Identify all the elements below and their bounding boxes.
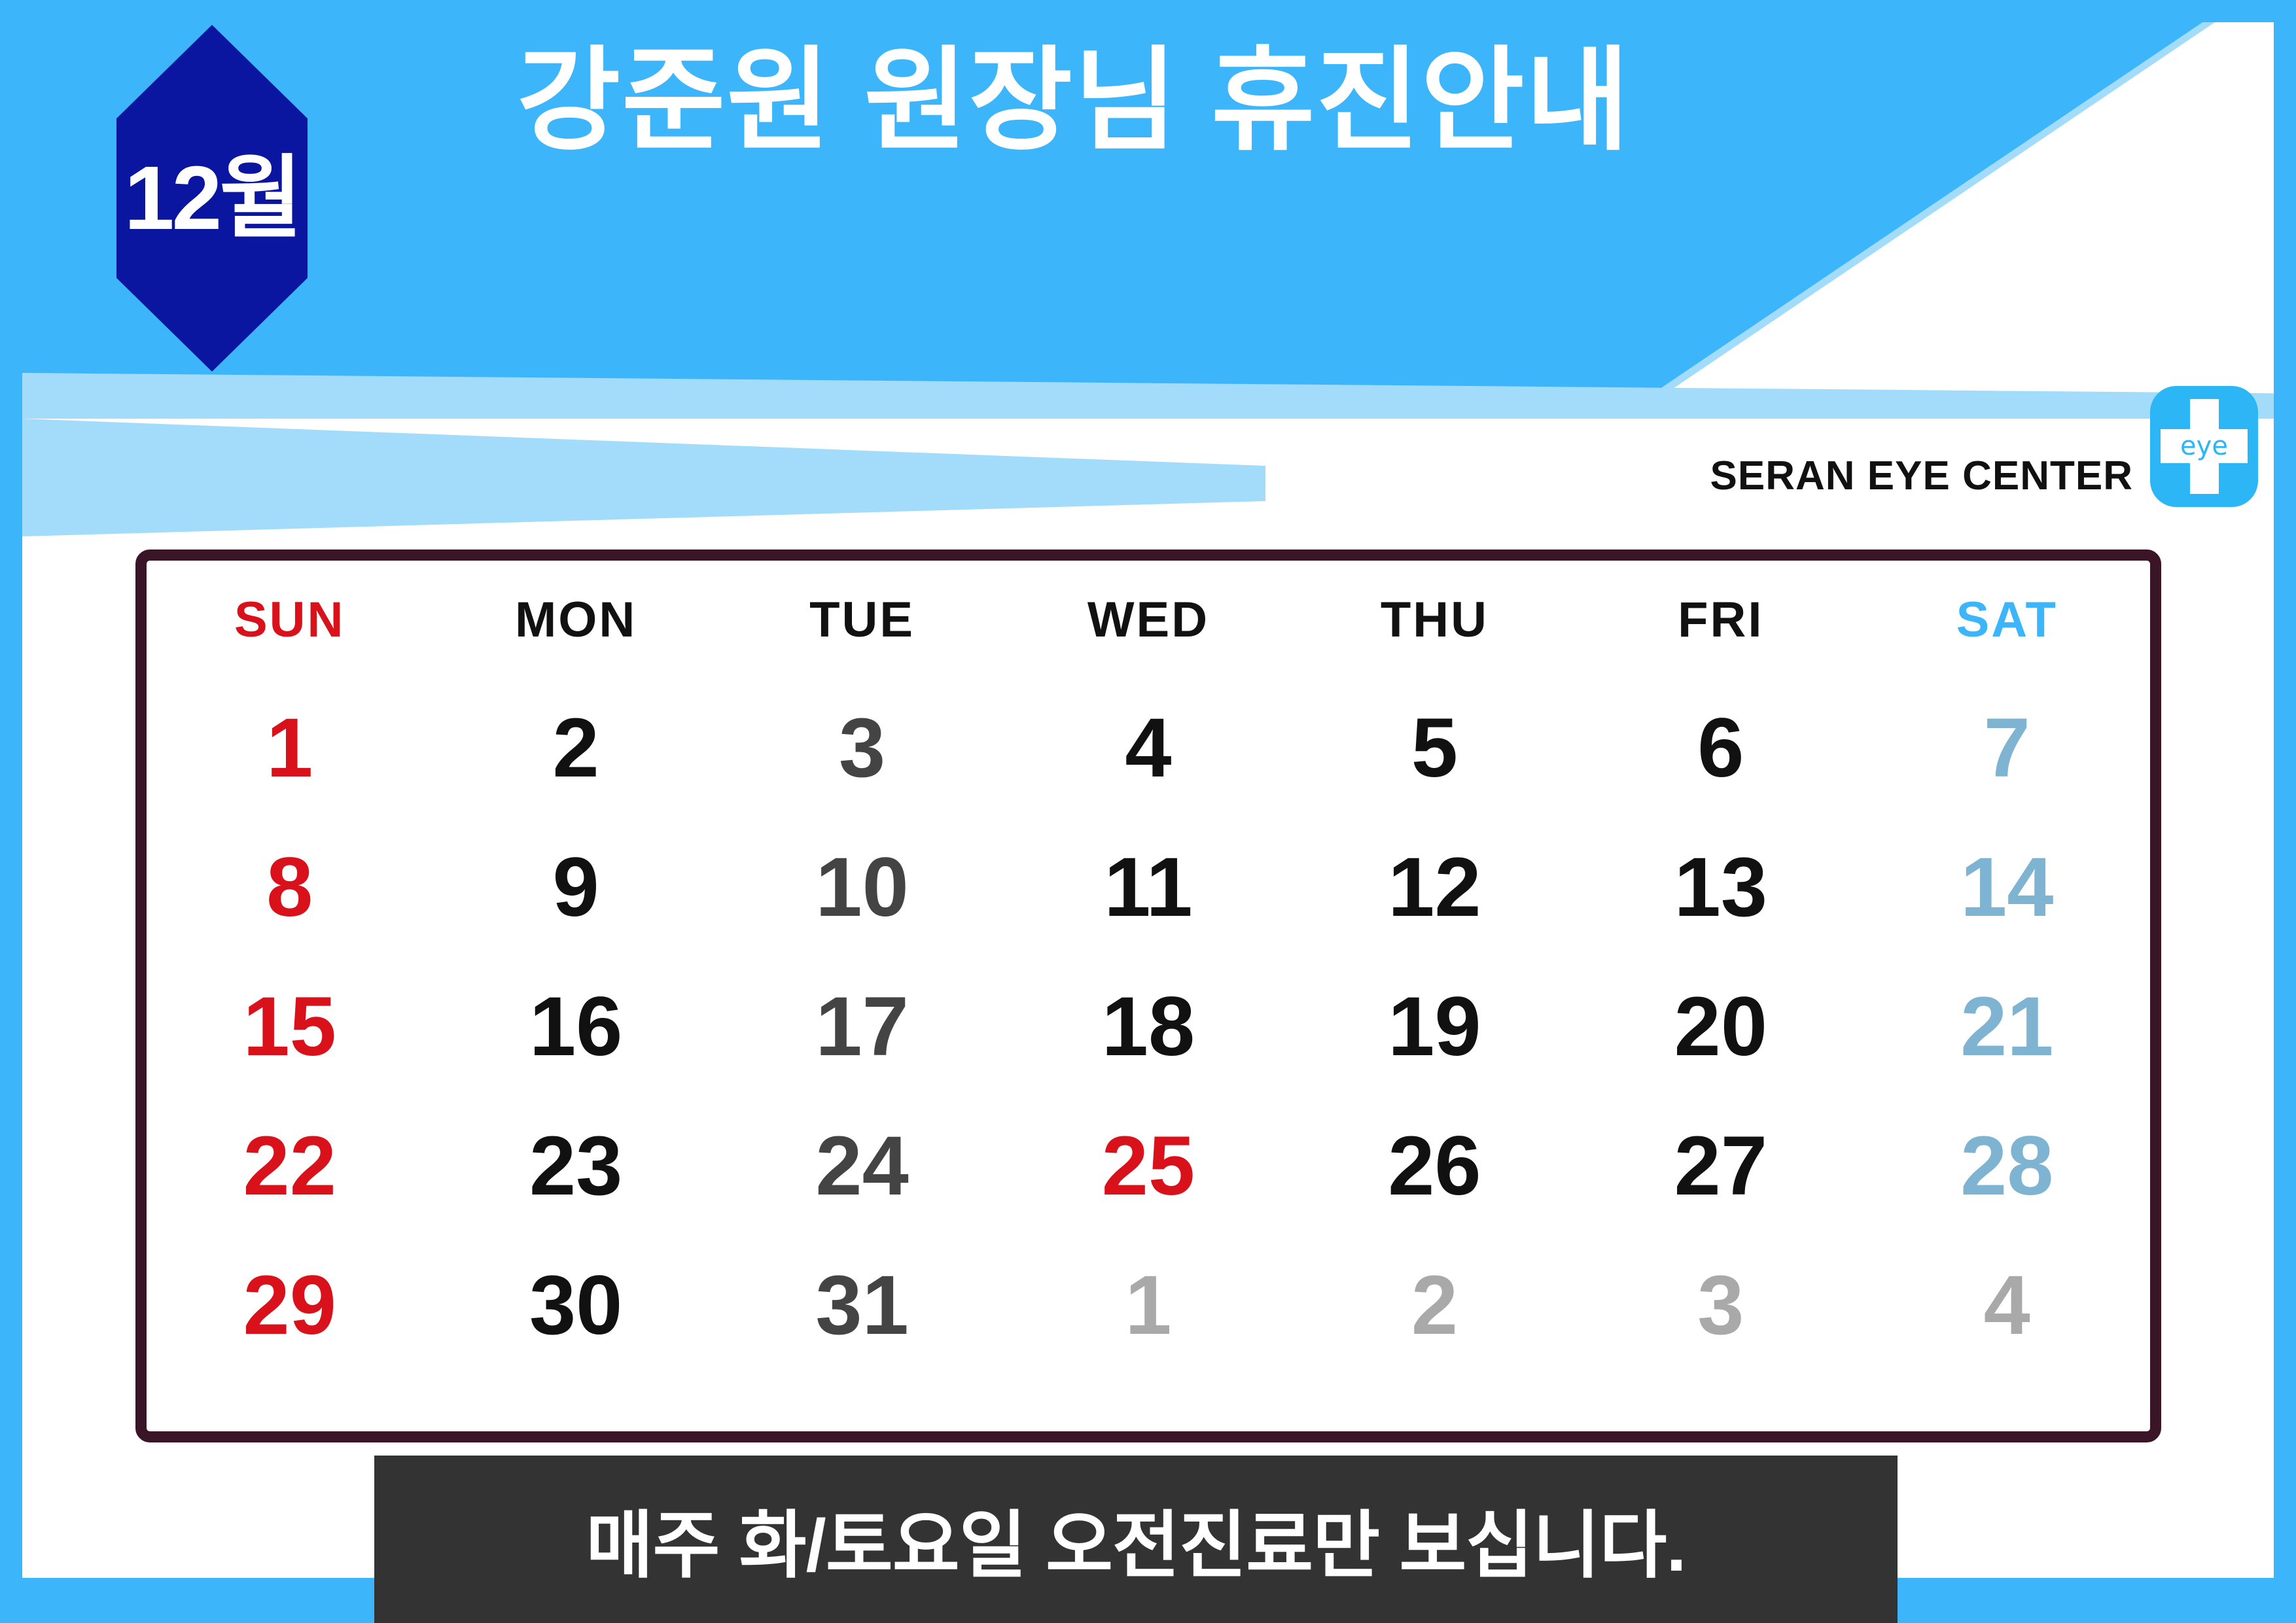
day-cell: 16 (433, 957, 718, 1096)
calendar-week-row: 15 16 17 18 19 20 21 (147, 957, 2150, 1096)
brand-block: SERAN EYE CENTER eye (1710, 386, 2258, 507)
day-cell: 2 (433, 678, 718, 818)
day-cell: 28 (1864, 1096, 2150, 1236)
calendar-frame: SUN MON TUE WED THU FRI SAT 1 2 3 4 5 6 … (135, 550, 2161, 1442)
day-cell: 10 (719, 818, 1005, 957)
day-cell: 26 (1292, 1096, 1578, 1236)
day-header-sun: SUN (147, 561, 433, 678)
calendar-week-row: 29 30 31 1 2 3 4 (147, 1236, 2150, 1375)
day-cell: 30 (433, 1236, 718, 1375)
day-cell-next-month: 2 (1292, 1236, 1578, 1375)
day-cell: 25 (1005, 1096, 1291, 1236)
calendar-week-row: 22 23 24 25 26 27 28 (147, 1096, 2150, 1236)
day-header-sat: SAT (1864, 561, 2150, 678)
day-header-tue: TUE (719, 561, 1005, 678)
day-cell: 3 (719, 678, 1005, 818)
day-cell: 27 (1578, 1096, 1863, 1236)
notice-text: 매주 화/토요일 오전진료만 보십니다. (586, 1486, 1686, 1592)
calendar-header-row: SUN MON TUE WED THU FRI SAT (147, 561, 2150, 678)
day-cell: 17 (719, 957, 1005, 1096)
day-cell: 11 (1005, 818, 1291, 957)
day-header-fri: FRI (1578, 561, 1863, 678)
day-cell: 1 (147, 678, 433, 818)
day-cell: 7 (1864, 678, 2150, 818)
day-cell: 12 (1292, 818, 1578, 957)
day-cell-highlighted: 14 (1864, 818, 2150, 957)
poster-canvas: 12월 강준원 원장님 휴진안내 SERAN EYE CENTER eye SU… (0, 0, 2296, 1623)
day-cell-next-month: 1 (1005, 1236, 1291, 1375)
day-cell: 9 (433, 818, 718, 957)
month-badge-hexagon: 12월 (116, 25, 308, 372)
day-cell: 20 (1578, 957, 1863, 1096)
day-cell-next-month: 3 (1578, 1236, 1863, 1375)
brand-name: SERAN EYE CENTER (1710, 453, 2133, 507)
day-cell: 31 (719, 1236, 1005, 1375)
day-cell: 21 (1864, 957, 2150, 1096)
day-cell: 15 (147, 957, 433, 1096)
day-cell: 19 (1292, 957, 1578, 1096)
day-header-wed: WED (1005, 561, 1291, 678)
calendar-grid: SUN MON TUE WED THU FRI SAT 1 2 3 4 5 6 … (147, 561, 2150, 1431)
day-cell: 24 (719, 1096, 1005, 1236)
day-cell: 8 (147, 818, 433, 957)
day-cell: 18 (1005, 957, 1291, 1096)
page-title: 강준원 원장님 휴진안내 (517, 39, 1631, 163)
day-cell: 5 (1292, 678, 1578, 818)
day-cell: 23 (433, 1096, 718, 1236)
calendar-week-row: 1 2 3 4 5 6 7 (147, 678, 2150, 818)
calendar-week-row: 8 9 10 11 12 13 14 (147, 818, 2150, 957)
day-cell: 22 (147, 1096, 433, 1236)
eye-cross-logo-icon: eye (2150, 386, 2258, 507)
notice-banner: 매주 화/토요일 오전진료만 보십니다. (374, 1456, 1898, 1623)
day-cell: 4 (1005, 678, 1291, 818)
day-cell: 6 (1578, 678, 1863, 818)
day-cell: 29 (147, 1236, 433, 1375)
day-cell: 13 (1578, 818, 1863, 957)
day-cell-next-month: 4 (1864, 1236, 2150, 1375)
logo-eye-text: eye (2150, 433, 2258, 459)
month-badge-label: 12월 (124, 153, 300, 243)
day-header-mon: MON (433, 561, 718, 678)
day-header-thu: THU (1292, 561, 1578, 678)
